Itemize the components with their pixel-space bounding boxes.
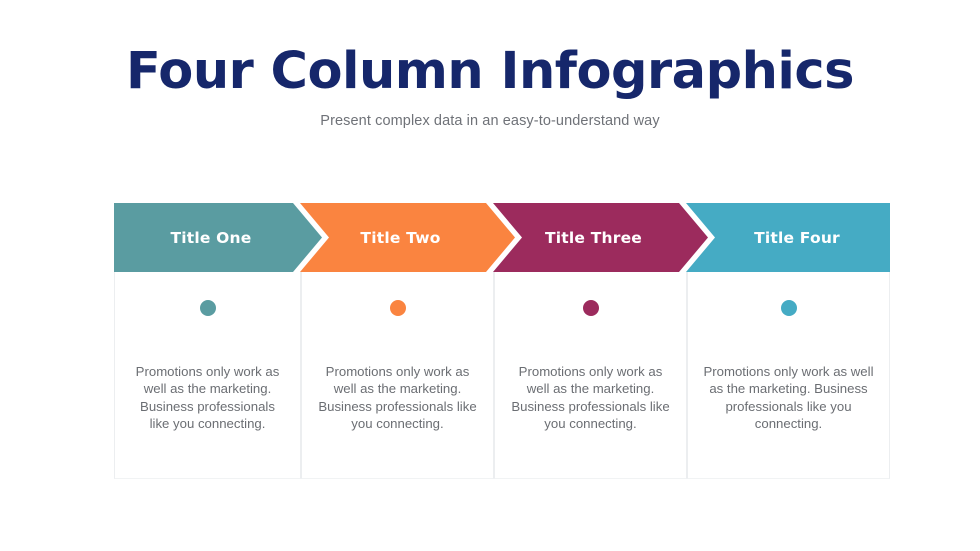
chevron-banner: Title One Title Two Title Three Title Fo… xyxy=(114,203,890,272)
column-3-body-text: Promotions only work as well as the mark… xyxy=(495,363,686,432)
column-card-3: Promotions only work as well as the mark… xyxy=(494,272,687,479)
column-3-dot-wrap xyxy=(495,272,686,376)
chevron-step-2[interactable]: Title Two xyxy=(300,203,515,272)
column-1-bullet-dot xyxy=(200,300,216,316)
column-4-dot-wrap xyxy=(688,272,889,376)
column-1-dot-wrap xyxy=(115,272,300,376)
column-cards: Promotions only work as well as the mark… xyxy=(114,272,890,479)
slide-canvas: Four Column Infographics Present complex… xyxy=(0,0,980,551)
chevron-step-3[interactable]: Title Three xyxy=(493,203,708,272)
header: Four Column Infographics Present complex… xyxy=(0,44,980,129)
column-3-bullet-dot xyxy=(583,300,599,316)
column-2-body-text: Promotions only work as well as the mark… xyxy=(302,363,493,432)
chevron-step-2-label: Title Two xyxy=(300,229,515,247)
page-subtitle: Present complex data in an easy-to-under… xyxy=(0,113,980,129)
chevron-step-1[interactable]: Title One xyxy=(114,203,322,272)
chevron-step-4-label: Title Four xyxy=(686,229,890,247)
column-1-body-text: Promotions only work as well as the mark… xyxy=(115,363,300,432)
column-2-bullet-dot xyxy=(390,300,406,316)
column-4-body-text: Promotions only work as well as the mark… xyxy=(688,363,889,432)
column-2-dot-wrap xyxy=(302,272,493,376)
column-card-1: Promotions only work as well as the mark… xyxy=(114,272,301,479)
chevron-step-3-label: Title Three xyxy=(493,229,708,247)
column-4-bullet-dot xyxy=(781,300,797,316)
column-card-4: Promotions only work as well as the mark… xyxy=(687,272,890,479)
column-card-2: Promotions only work as well as the mark… xyxy=(301,272,494,479)
four-column-infographic: Title One Title Two Title Three Title Fo… xyxy=(114,203,890,479)
chevron-step-4[interactable]: Title Four xyxy=(686,203,890,272)
chevron-step-1-label: Title One xyxy=(114,229,322,247)
page-title: Four Column Infographics xyxy=(0,44,980,99)
